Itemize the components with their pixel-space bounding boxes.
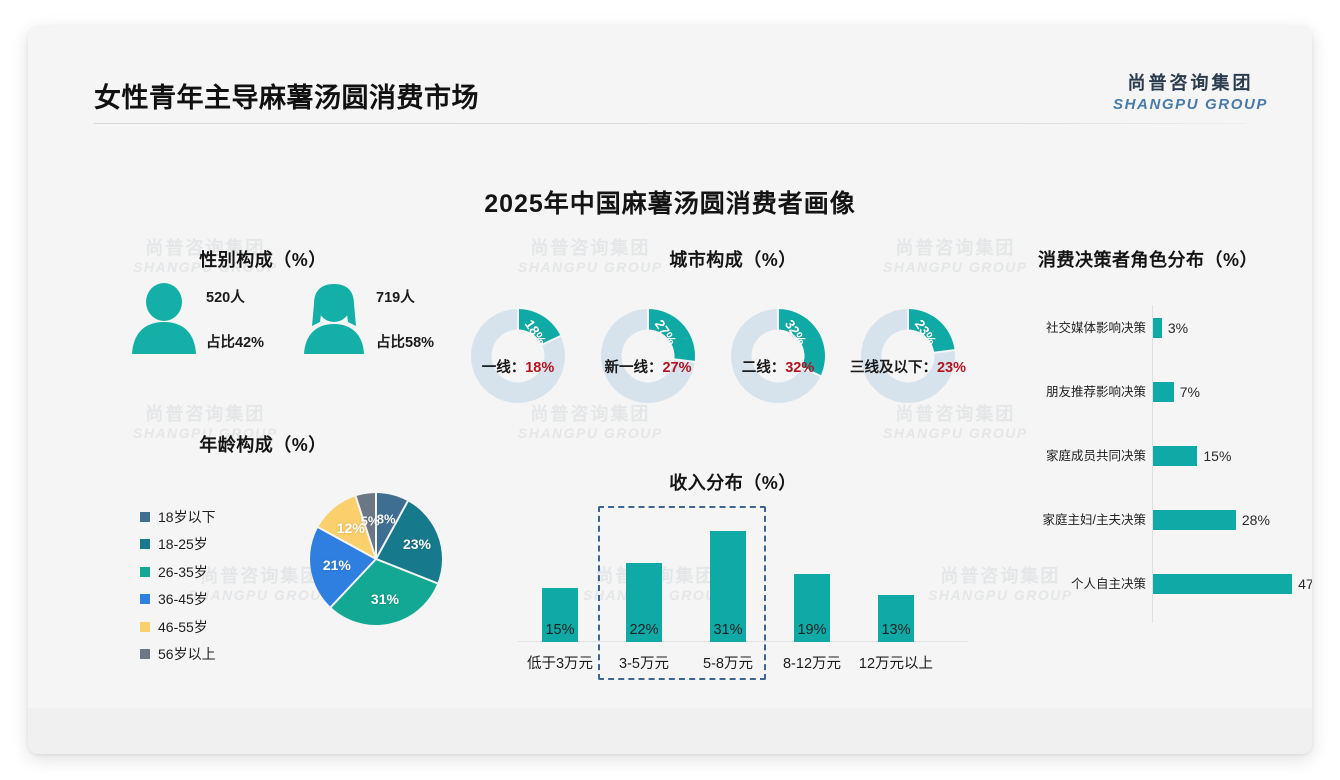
donut-seam [647, 309, 649, 356]
income-bar-value: 31% [690, 622, 766, 638]
decision-category-label: 家庭主妇/主夫决策 [1010, 505, 1146, 535]
legend-item: 18岁以下 [140, 503, 216, 531]
decision-bar-row: 家庭成员共同决策15% [1010, 441, 1310, 471]
legend-label: 26-35岁 [158, 562, 208, 582]
pie-slice-label: 23% [403, 536, 431, 552]
donut-caption-tier3: 三线及以下：23% [813, 356, 1003, 377]
decision-bar-row: 个人自主决策47% [1010, 569, 1310, 599]
decision-category-label: 社交媒体影响决策 [1010, 313, 1146, 343]
brand-logo: 尚普咨询集团 SHANGPU GROUP [1113, 69, 1268, 113]
city-section-title: 城市构成（%） [468, 246, 998, 272]
decision-bar-value: 15% [1203, 441, 1231, 471]
decision-bar-value: 3% [1168, 313, 1188, 343]
gender-male-count: 520人 [206, 286, 264, 307]
legend-label: 18-25岁 [158, 534, 208, 554]
decision-section-title: 消费决策者角色分布（%） [983, 246, 1312, 272]
decision-bar [1153, 446, 1197, 466]
age-pie-chart: 8%23%31%21%12%5% [310, 493, 442, 625]
legend-label: 56岁以上 [158, 644, 216, 664]
income-bar-value: 19% [774, 622, 850, 638]
logo-en-text: SHANGPU GROUP [1113, 96, 1268, 113]
legend-label: 36-45岁 [158, 589, 208, 609]
income-bar-chart: 15%低于3万元22%3-5万元31%5-8万元19%8-12万元13%12万元… [518, 504, 968, 684]
decision-bar-row: 社交媒体影响决策3% [1010, 313, 1310, 343]
gender-male-text: 520人 占比42% [206, 286, 264, 352]
legend-swatch [140, 622, 150, 632]
income-section-title: 收入分布（%） [498, 469, 968, 495]
decision-bar-row: 朋友推荐影响决策7% [1010, 377, 1310, 407]
legend-item: 46-55岁 [140, 613, 216, 641]
slide-canvas: 尚普咨询集团SHANGPU GROUP 尚普咨询集团SHANGPU GROUP … [28, 26, 1312, 754]
decision-bar-row: 家庭主妇/主夫决策28% [1010, 505, 1310, 535]
income-category-label: 低于3万元 [515, 652, 605, 673]
watermark: 尚普咨询集团SHANGPU GROUP [883, 404, 1028, 442]
gender-section-title: 性别构成（%） [98, 246, 428, 272]
footer-band: ©2025.11 SHANGPU GROUP www.shangpu-china… [28, 708, 1312, 754]
income-bar-value: 22% [606, 622, 682, 638]
legend-swatch [140, 539, 150, 549]
decision-bar-value: 7% [1180, 377, 1200, 407]
legend-item: 18-25岁 [140, 531, 216, 559]
legend-label: 46-55岁 [158, 617, 208, 637]
income-category-label: 5-8万元 [683, 652, 773, 673]
slide-header: 女性青年主导麻薯汤圆消费市场 尚普咨询集团 SHANGPU GROUP [28, 26, 1312, 100]
pie-slice-label: 5% [361, 514, 380, 529]
main-title: 2025年中国麻薯汤圆消费者画像 [28, 184, 1312, 220]
legend-item: 36-45岁 [140, 586, 216, 614]
decision-category-label: 个人自主决策 [1010, 569, 1146, 599]
age-pie-legend: 18岁以下 18-25岁 26-35岁 36-45岁 46-55岁 56岁以上 [140, 503, 216, 668]
donut-seam [517, 309, 519, 356]
pie-slice-label: 31% [371, 591, 399, 607]
pie-slice-divider [376, 558, 438, 584]
legend-swatch [140, 594, 150, 604]
male-avatar-icon [130, 282, 198, 359]
pie-slice-label: 21% [323, 557, 351, 573]
legend-label: 18岁以下 [158, 507, 216, 527]
watermark: 尚普咨询集团SHANGPU GROUP [518, 404, 663, 442]
logo-cn-text: 尚普咨询集团 [1113, 69, 1268, 95]
legend-item: 26-35岁 [140, 558, 216, 586]
decision-bar [1153, 510, 1236, 530]
income-bar-value: 15% [522, 622, 598, 638]
income-category-label: 3-5万元 [599, 652, 689, 673]
decision-bar-chart: 社交媒体影响决策3%朋友推荐影响决策7%家庭成员共同决策15%家庭主妇/主夫决策… [1010, 291, 1310, 626]
income-bar-value: 13% [858, 622, 934, 638]
gender-female-share: 占比58% [376, 331, 434, 352]
gender-female-count: 719人 [376, 286, 434, 307]
age-section-title: 年龄构成（%） [98, 431, 428, 457]
legend-swatch [140, 649, 150, 659]
decision-bar-value: 47% [1298, 569, 1312, 599]
donut-seam [907, 309, 909, 356]
income-category-label: 12万元以上 [851, 652, 941, 673]
legend-swatch [140, 512, 150, 522]
decision-bar [1153, 382, 1174, 402]
decision-bar [1153, 318, 1162, 338]
header-divider [94, 123, 1246, 124]
decision-bar-value: 28% [1242, 505, 1270, 535]
decision-category-label: 家庭成员共同决策 [1010, 441, 1146, 471]
legend-swatch [140, 567, 150, 577]
income-category-label: 8-12万元 [767, 652, 857, 673]
decision-category-label: 朋友推荐影响决策 [1010, 377, 1146, 407]
legend-item: 56岁以上 [140, 641, 216, 669]
gender-female-text: 719人 占比58% [376, 286, 434, 352]
female-avatar-icon [300, 282, 368, 359]
decision-bar [1153, 574, 1292, 594]
gender-male-share: 占比42% [206, 331, 264, 352]
donut-seam [777, 309, 779, 356]
page-title: 女性青年主导麻薯汤圆消费市场 [94, 76, 479, 115]
